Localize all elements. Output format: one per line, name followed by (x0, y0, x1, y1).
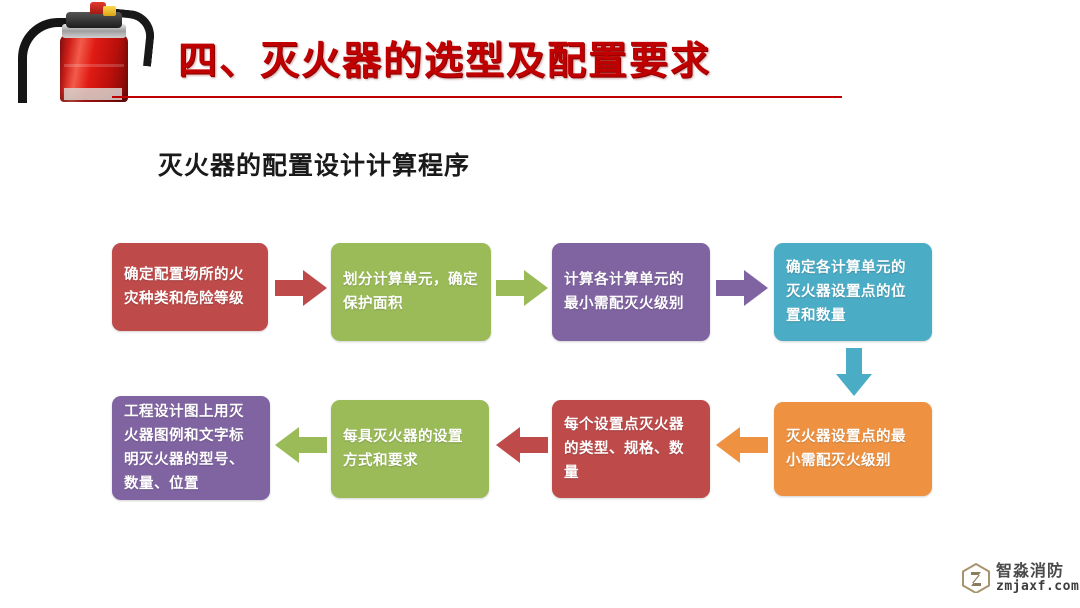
flow-box-label: 灭火器设置点的最小需配灭火级别 (786, 425, 920, 473)
flow-box-8: 工程设计图上用灭火器图例和文字标明灭火器的型号、数量、位置 (112, 396, 270, 500)
flow-arrow-left-5 (716, 424, 768, 466)
flow-box-7: 每具灭火器的设置方式和要求 (331, 400, 489, 498)
flow-box-label: 确定各计算单元的灭火器设置点的位置和数量 (786, 256, 920, 328)
flow-box-label: 划分计算单元，确定保护面积 (343, 268, 479, 316)
brand-mark-icon (962, 563, 990, 593)
flow-box-label: 工程设计图上用灭火器图例和文字标明灭火器的型号、数量、位置 (124, 400, 258, 496)
flow-box-1: 确定配置场所的火灾种类和危险等级 (112, 243, 268, 331)
flow-arrow-right-2 (496, 268, 548, 308)
flow-arrow-left-7 (275, 424, 327, 466)
flow-box-6: 每个设置点灭火器的类型、规格、数量 (552, 400, 710, 498)
flow-box-5: 灭火器设置点的最小需配灭火级别 (774, 402, 932, 496)
flow-arrow-down-4 (833, 348, 875, 396)
flow-arrow-left-6 (496, 424, 548, 466)
flow-box-4: 确定各计算单元的灭火器设置点的位置和数量 (774, 243, 932, 341)
flow-arrow-right-1 (275, 268, 327, 308)
flowchart-diagram: 确定配置场所的火灾种类和危险等级划分计算单元，确定保护面积计算各计算单元的最小需… (0, 0, 1080, 608)
watermark-brand: 智淼消防 (996, 563, 1079, 580)
flow-box-label: 每具灭火器的设置方式和要求 (343, 425, 477, 473)
flow-arrow-right-3 (716, 268, 768, 308)
flow-box-label: 确定配置场所的火灾种类和危险等级 (124, 263, 256, 311)
flow-box-label: 计算各计算单元的最小需配灭火级别 (564, 268, 698, 316)
watermark-logo: 智淼消防 zmjaxf.com (962, 563, 1079, 593)
flow-box-2: 划分计算单元，确定保护面积 (331, 243, 491, 341)
flow-box-label: 每个设置点灭火器的类型、规格、数量 (564, 413, 698, 485)
flow-box-3: 计算各计算单元的最小需配灭火级别 (552, 243, 710, 341)
watermark-domain: zmjaxf.com (996, 580, 1079, 594)
